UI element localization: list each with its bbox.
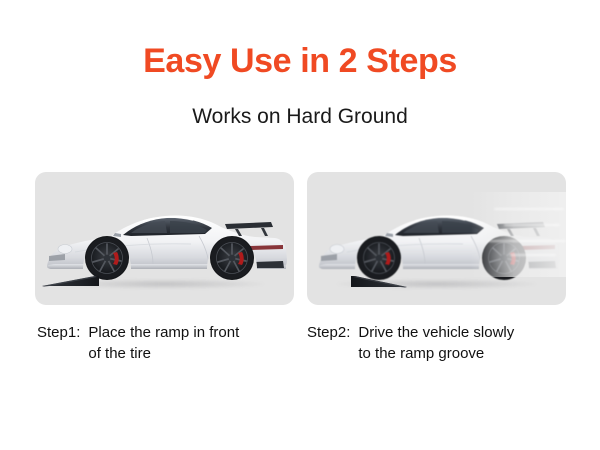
step1-description-line2: of the tire [88, 343, 239, 364]
step1-description: Place the ramp in front of the tire [88, 322, 239, 364]
step2-description-line1: Drive the vehicle slowly [358, 322, 514, 343]
page-title: Easy Use in 2 Steps [0, 40, 600, 82]
wedge-ramp [347, 273, 409, 289]
page-subtitle: Works on Hard Ground [0, 103, 600, 131]
step1-description-line1: Place the ramp in front [88, 322, 239, 343]
step1-scene [35, 172, 294, 305]
wedge-ramp [41, 272, 101, 288]
step1-caption: Step1: Place the ramp in front of the ti… [37, 322, 239, 364]
promo-page: Easy Use in 2 Steps Works on Hard Ground [0, 0, 600, 450]
step1-image-panel [35, 172, 294, 305]
step1-label: Step1: [37, 322, 88, 343]
step2-label: Step2: [307, 322, 358, 343]
step2-scene [307, 172, 566, 305]
step2-image-panel [307, 172, 566, 305]
step2-description-line2: to the ramp groove [358, 343, 514, 364]
step-image-panels [35, 172, 566, 305]
step-captions: Step1: Place the ramp in front of the ti… [35, 322, 566, 382]
step2-description: Drive the vehicle slowly to the ramp gro… [358, 322, 514, 364]
step2-caption: Step2: Drive the vehicle slowly to the r… [307, 322, 514, 364]
